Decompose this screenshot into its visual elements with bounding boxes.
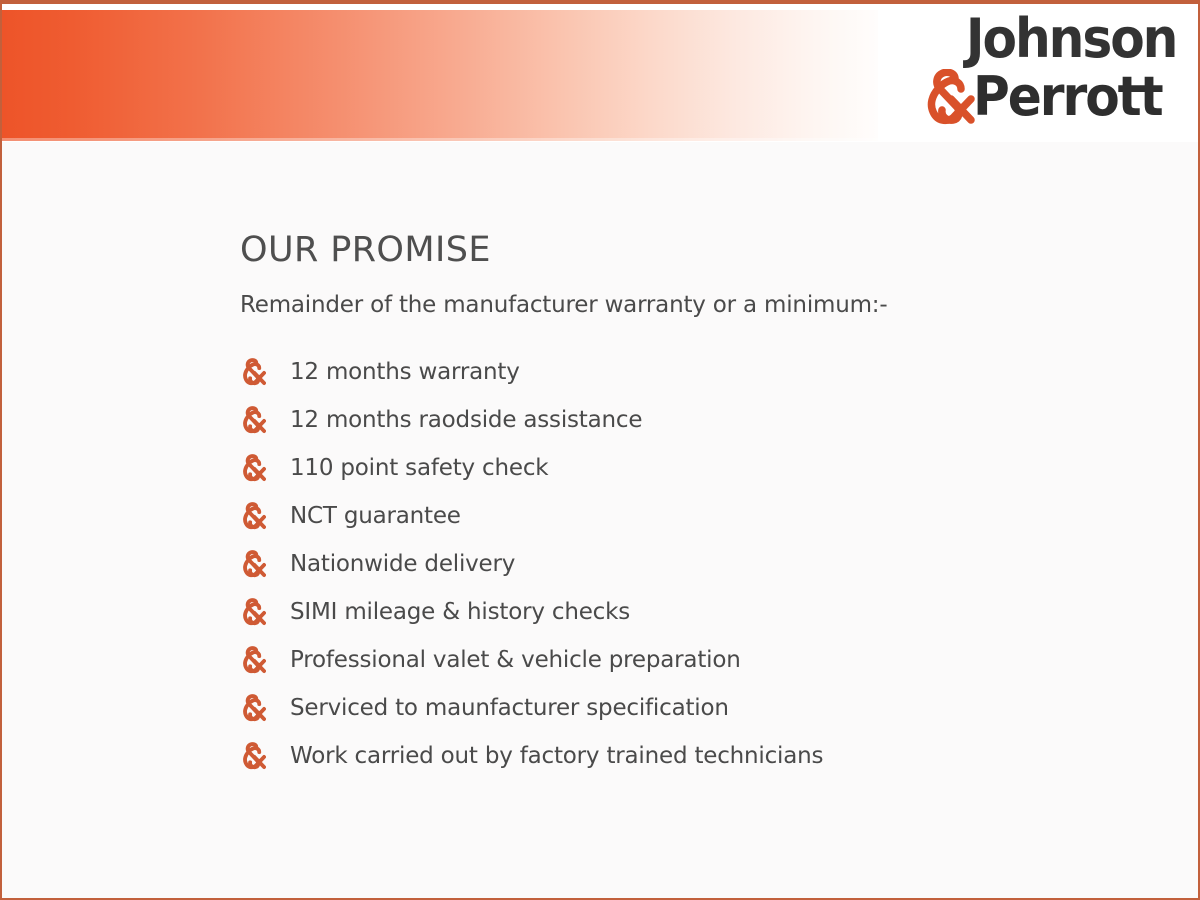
- ampersand-bullet-icon: [240, 741, 266, 771]
- header-gradient-highlight: [2, 138, 878, 141]
- ampersand-mark-icon: [921, 69, 975, 125]
- ampersand-bullet-icon: [240, 357, 266, 387]
- ampersand-bullet-icon: [240, 501, 266, 531]
- list-item-label: Work carried out by factory trained tech…: [290, 742, 823, 770]
- ampersand-bullet-icon: [240, 453, 266, 483]
- ampersand-bullet-icon: [240, 597, 266, 627]
- list-item: SIMI mileage & history checks: [240, 588, 1140, 636]
- ampersand-bullet-icon: [240, 549, 266, 579]
- list-item: 12 months raodside assistance: [240, 396, 1140, 444]
- list-item: 12 months warranty: [240, 348, 1140, 396]
- brand-logo-perrott-text: Perrott: [973, 68, 1162, 126]
- promise-page: Johnson Perrott OUR PROMISE Remainder of…: [0, 0, 1200, 900]
- list-item-label: Serviced to maunfacturer specification: [290, 694, 729, 722]
- list-item: Serviced to maunfacturer specification: [240, 684, 1140, 732]
- brand-logo-line2: Perrott: [921, 66, 1176, 128]
- header-top-border: [2, 2, 1198, 4]
- list-item: 110 point safety check: [240, 444, 1140, 492]
- promise-subtitle: Remainder of the manufacturer warranty o…: [240, 290, 1140, 320]
- page-header: Johnson Perrott: [2, 2, 1198, 142]
- list-item: NCT guarantee: [240, 492, 1140, 540]
- list-item: Professional valet & vehicle preparation: [240, 636, 1140, 684]
- ampersand-bullet-icon: [240, 405, 266, 435]
- list-item-label: Nationwide delivery: [290, 550, 515, 578]
- ampersand-bullet-icon: [240, 693, 266, 723]
- list-item-label: Professional valet & vehicle preparation: [290, 646, 741, 674]
- page-title: OUR PROMISE: [240, 230, 1140, 270]
- list-item-label: 110 point safety check: [290, 454, 548, 482]
- brand-logo-line1: Johnson: [965, 8, 1176, 70]
- list-item-label: SIMI mileage & history checks: [290, 598, 630, 626]
- list-item: Nationwide delivery: [240, 540, 1140, 588]
- brand-logo: Johnson Perrott: [886, 8, 1176, 134]
- list-item-label: 12 months raodside assistance: [290, 406, 642, 434]
- list-item-label: NCT guarantee: [290, 502, 461, 530]
- list-item: Work carried out by factory trained tech…: [240, 732, 1140, 780]
- list-item-label: 12 months warranty: [290, 358, 520, 386]
- promise-content: OUR PROMISE Remainder of the manufacture…: [240, 230, 1140, 780]
- promise-list: 12 months warranty 12 months raodside as…: [240, 348, 1140, 780]
- ampersand-bullet-icon: [240, 645, 266, 675]
- header-gradient-band: [2, 10, 878, 141]
